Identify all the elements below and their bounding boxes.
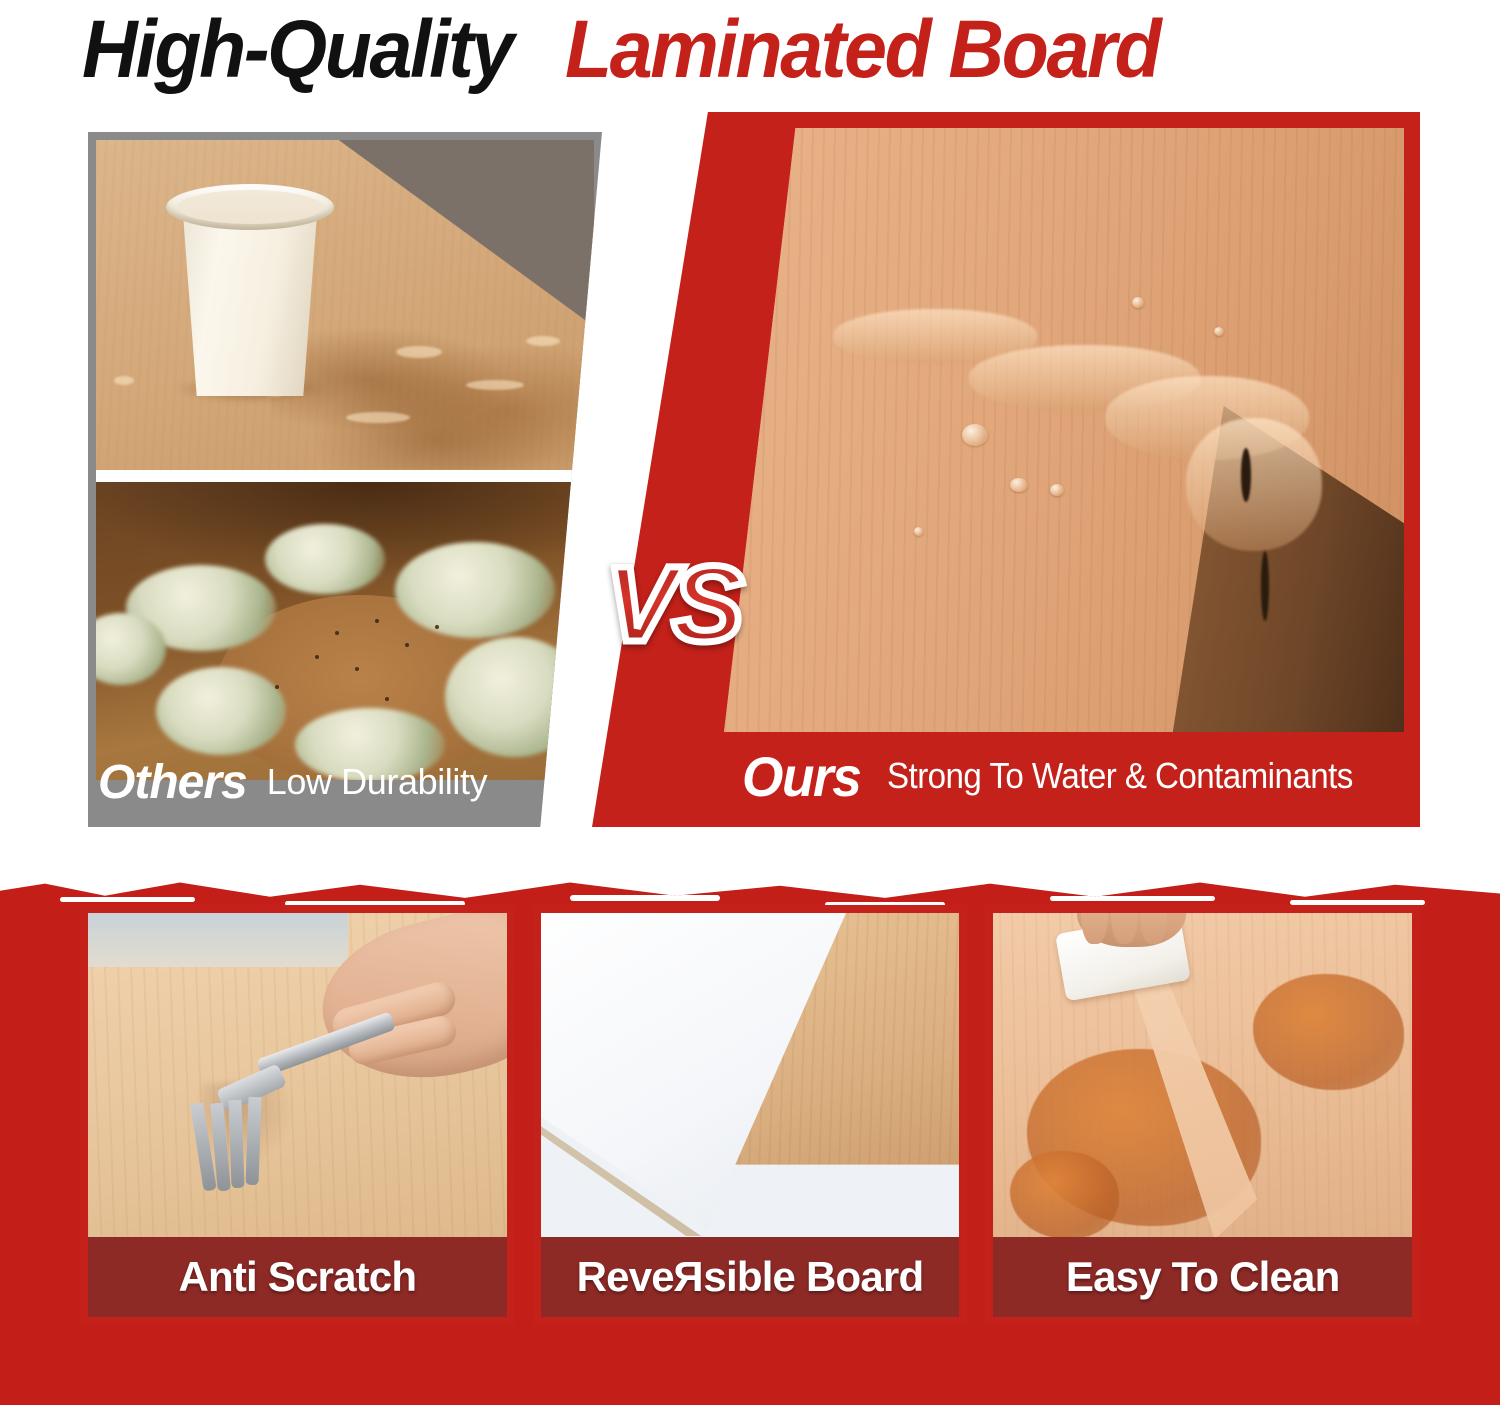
mold-speck: [315, 655, 319, 659]
brush-fleck: [240, 876, 300, 881]
spill-highlight: [526, 336, 560, 346]
paper-cup: [166, 178, 334, 396]
feature-label-reversible: ReveRsible Board: [541, 1237, 960, 1317]
water-runoff: [1186, 418, 1322, 551]
ours-caption: Strong To Water & Contaminants: [887, 755, 1353, 797]
mold-speck: [355, 667, 359, 671]
mold-patch: [395, 542, 555, 638]
title-red-part: Laminated Board: [565, 9, 1159, 91]
photo-divider: [96, 470, 594, 482]
feature-card-easy-to-clean: Easy To Clean: [985, 905, 1420, 1325]
mold-patch: [156, 667, 286, 755]
anti-scratch-photo: [88, 913, 507, 1253]
cup-interior: [177, 190, 323, 224]
title-black-part: High-Quality: [82, 9, 512, 91]
spill-highlight: [466, 380, 524, 390]
water-droplet: [962, 424, 988, 446]
feature-card-reversible: ReveRsible Board: [533, 905, 968, 1325]
mold-speck: [405, 643, 409, 647]
infographic-page: High-Quality Laminated Board: [0, 0, 1500, 1405]
others-caption: Low Durability: [267, 761, 488, 803]
spill-highlight: [396, 346, 442, 358]
easy-to-clean-photo: [993, 913, 1412, 1253]
label-text-after: sible Board: [703, 1253, 923, 1301]
mold-speck: [335, 631, 339, 635]
ours-panel: Ours Strong To Water & Contaminants: [592, 112, 1420, 827]
ours-label-strip: Ours Strong To Water & Contaminants: [742, 745, 1404, 807]
feature-cards: Anti Scratch ReveRsible Board: [0, 905, 1500, 1325]
water-droplet: [1214, 327, 1224, 336]
feature-label-anti-scratch: Anti Scratch: [88, 1237, 507, 1317]
brush-texture: [570, 895, 720, 901]
feature-card-anti-scratch: Anti Scratch: [80, 905, 515, 1325]
others-panel: Others Low Durability: [88, 132, 602, 827]
mold-patch: [445, 637, 585, 757]
others-label-strip: Others Low Durability: [98, 753, 596, 811]
feature-label-easy-to-clean: Easy To Clean: [993, 1237, 1412, 1317]
water-drip: [1241, 448, 1251, 502]
ours-water-photo: [724, 128, 1404, 732]
mirrored-r-glyph: R: [674, 1253, 704, 1301]
others-mold-photo: [96, 482, 594, 780]
others-photo-stack: [96, 140, 594, 780]
reversible-photo: [541, 913, 960, 1253]
comparison-section: Others Low Durability: [0, 104, 1500, 829]
background-strip: [88, 913, 348, 967]
brush-fleck: [30, 873, 75, 879]
spill-droplet: [114, 376, 134, 385]
others-spill-photo: [96, 140, 594, 470]
vs-badge: VS: [605, 541, 739, 666]
ours-label: Ours: [742, 744, 860, 809]
others-label: Others: [98, 755, 247, 810]
mold-speck: [275, 685, 279, 689]
mold-speck: [385, 697, 389, 701]
brush-texture: [60, 897, 195, 903]
spill-highlight: [346, 412, 410, 423]
water-droplet: [1010, 478, 1028, 492]
brush-texture: [1050, 896, 1215, 902]
label-text-before: Reve: [577, 1253, 674, 1301]
mold-speck: [375, 619, 379, 623]
mold-patch: [265, 524, 385, 594]
brush-fleck: [780, 874, 825, 878]
page-title: High-Quality Laminated Board: [0, 0, 1500, 100]
mold-speck: [435, 625, 439, 629]
water-droplet: [914, 527, 923, 536]
brush-fleck: [1110, 872, 1170, 878]
